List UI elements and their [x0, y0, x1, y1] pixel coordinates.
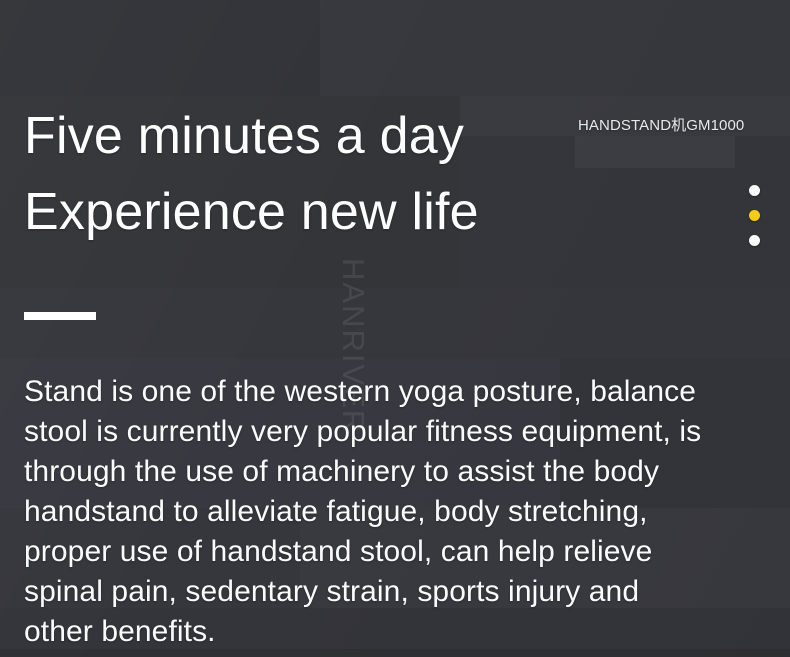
body-paragraph: Stand is one of the western yoga posture…	[24, 372, 776, 652]
background-panel	[320, 0, 790, 96]
carousel-dot-indicator[interactable]	[749, 185, 760, 246]
body-line: handstand to alleviate fatigue, body str…	[24, 492, 776, 532]
headline-line-1: Five minutes a day	[24, 98, 624, 174]
carousel-dot-2[interactable]	[749, 210, 760, 221]
body-line: Stand is one of the western yoga posture…	[24, 372, 776, 412]
body-line: proper use of handstand stool, can help …	[24, 532, 776, 572]
body-line: other benefits.	[24, 612, 776, 652]
body-line: spinal pain, sedentary strain, sports in…	[24, 572, 776, 612]
body-line: stool is currently very popular fitness …	[24, 412, 776, 452]
headline-line-2: Experience new life	[24, 174, 624, 250]
sku-model-label: HANDSTAND机GM1000	[578, 114, 744, 135]
product-banner: HANRIVER Five minutes a day Experience n…	[0, 0, 790, 657]
background-panel	[0, 288, 790, 358]
carousel-dot-3[interactable]	[749, 235, 760, 246]
carousel-dot-1[interactable]	[749, 185, 760, 196]
body-line: through the use of machinery to assist t…	[24, 452, 776, 492]
headline-divider-rule	[24, 312, 96, 320]
headline: Five minutes a day Experience new life	[24, 98, 624, 250]
background-panel	[0, 0, 320, 96]
